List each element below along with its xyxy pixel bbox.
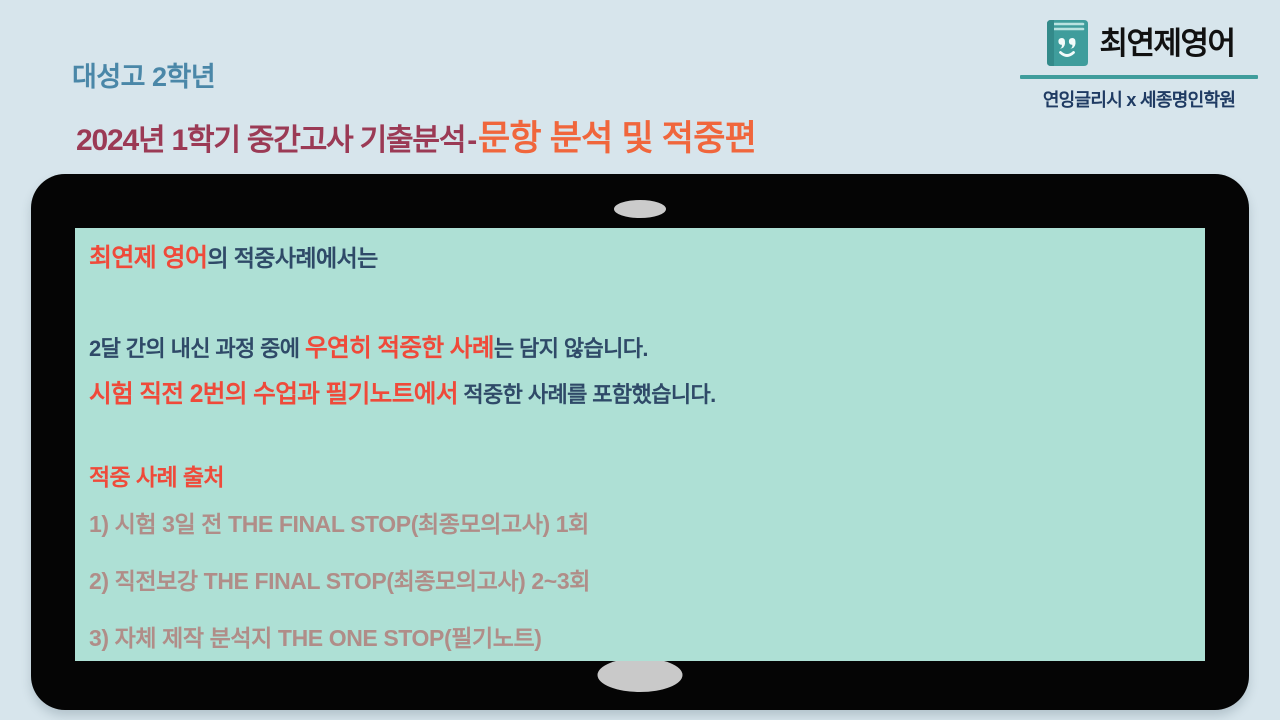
brand-row: 최연제영어 xyxy=(1006,14,1272,72)
page-header: 대성고 2학년 2024년 1학기 중간고사 기출분석-문항 분석 및 적중편 xyxy=(0,0,1280,172)
page-title-dash: - xyxy=(465,124,478,157)
camera-dot-icon xyxy=(614,200,666,218)
home-button-icon xyxy=(598,658,683,692)
monitor-screen: 최연제 영어의 적중사례에서는 2달 간의 내신 과정 중에 우연히 적중한 사… xyxy=(75,228,1205,661)
page-title-accent: 문항 분석 및 적중편 xyxy=(478,119,756,158)
page-title-main: 2024년 1학기 중간고사 기출분석 xyxy=(76,124,465,157)
intro-rest: 의 적중사례에서는 xyxy=(207,245,377,271)
brand-underline xyxy=(1020,75,1258,79)
body-line-2: 시험 직전 2번의 수업과 필기노트에서 적중한 사례를 포함했습니다. xyxy=(89,380,1205,409)
screen-content: 최연제 영어의 적중사례에서는 2달 간의 내신 과정 중에 우연히 적중한 사… xyxy=(75,228,1205,653)
body-line-2-highlight: 시험 직전 2번의 수업과 필기노트에서 xyxy=(89,381,458,408)
body-line-1: 2달 간의 내신 과정 중에 우연히 적중한 사례는 담지 않습니다. xyxy=(89,334,1205,363)
source-item-2: 2) 직전보강 THE FINAL STOP(최종모의고사) 2~3회 xyxy=(89,562,1205,596)
source-item-3: 3) 자체 제작 분석지 THE ONE STOP(필기노트) xyxy=(89,619,1205,653)
brand-subtitle: 연잉글리시 x 세종명인학원 xyxy=(1006,86,1272,112)
body-line-1-post: 는 담지 않습니다. xyxy=(494,336,648,361)
brand-name: 최연제영어 xyxy=(1099,28,1234,59)
monitor-frame: 최연제 영어의 적중사례에서는 2달 간의 내신 과정 중에 우연히 적중한 사… xyxy=(31,174,1249,710)
body-line-1-highlight: 우연히 적중한 사례 xyxy=(305,335,494,362)
brand-logo: 최연제영어 연잉글리시 x 세종명인학원 xyxy=(1006,14,1272,112)
intro-highlight: 최연제 영어 xyxy=(89,244,207,272)
school-grade-label: 대성고 2학년 xyxy=(72,55,215,94)
source-item-1: 1) 시험 3일 전 THE FINAL STOP(최종모의고사) 1회 xyxy=(89,505,1205,539)
sources-heading: 적중 사례 출처 xyxy=(89,458,1205,492)
page-title: 2024년 1학기 중간고사 기출분석-문항 분석 및 적중편 xyxy=(76,121,756,156)
body-line-2-post: 적중한 사례를 포함했습니다. xyxy=(458,382,716,407)
intro-line: 최연제 영어의 적중사례에서는 xyxy=(89,244,1205,274)
book-smiley-icon xyxy=(1043,18,1090,68)
body-line-1-pre: 2달 간의 내신 과정 중에 xyxy=(89,336,305,361)
